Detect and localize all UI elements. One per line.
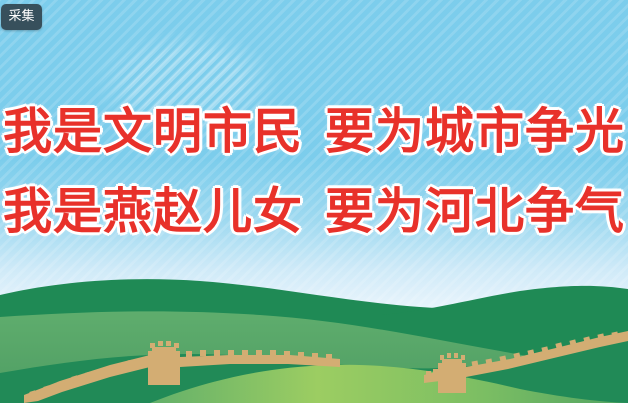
sky-watermark-graphic (95, 18, 325, 138)
hills-illustration (0, 255, 628, 403)
capture-button[interactable]: 采集 (1, 4, 42, 30)
banner-image: 我是文明市民要为城市争光 我是燕赵儿女要为河北争气 采集 (0, 0, 628, 403)
